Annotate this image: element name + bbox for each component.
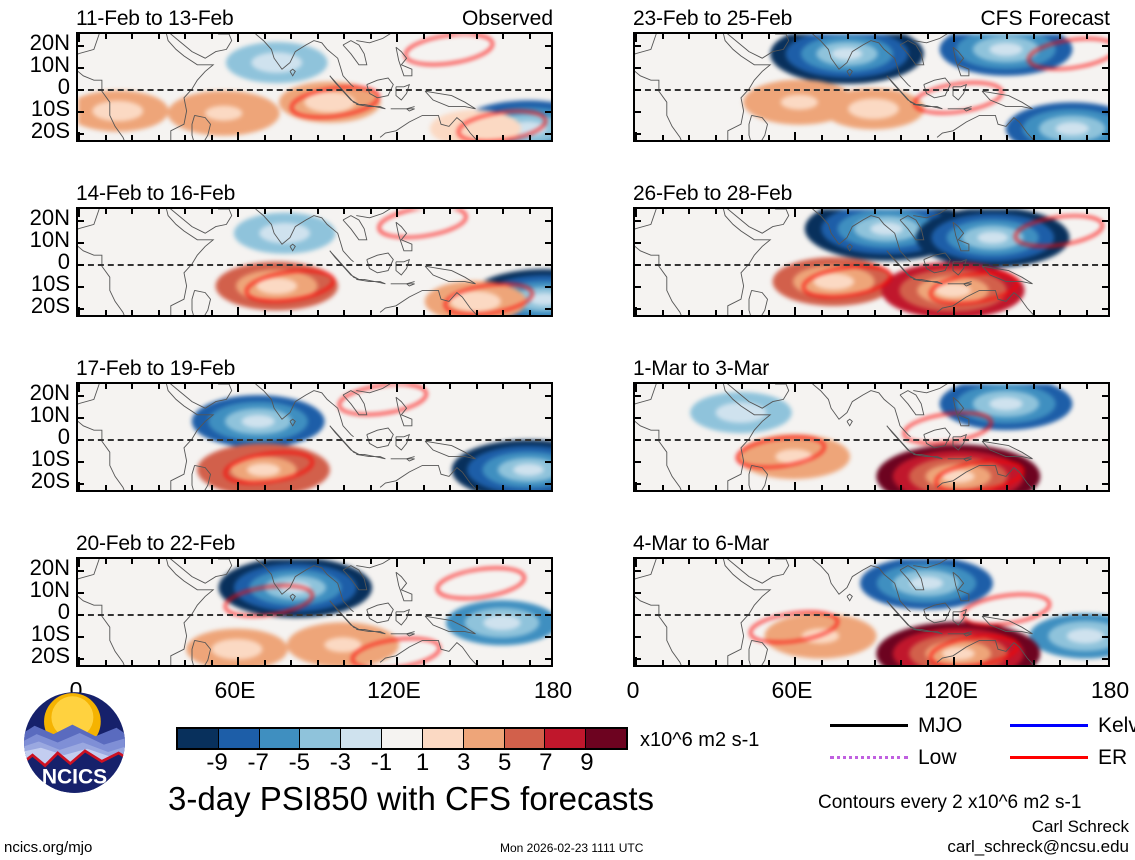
y-tick-right	[545, 592, 551, 594]
x-tick-top	[1059, 209, 1061, 214]
x-tick	[900, 310, 902, 315]
x-tick-top	[184, 209, 186, 214]
x-tick	[847, 485, 849, 490]
y-tick	[78, 264, 84, 266]
y-tick-right	[1102, 614, 1108, 616]
y-axis-label: 10N	[30, 579, 70, 601]
y-tick	[635, 483, 641, 485]
y-tick-right	[1102, 483, 1108, 485]
colorbar-tick-label: -5	[289, 751, 310, 775]
equator-line	[635, 614, 1108, 616]
coastline-segment	[367, 253, 394, 273]
map-field-p2	[635, 34, 1108, 140]
x-tick	[927, 485, 929, 490]
y-axis-labels-row1: 20N10N010S20S	[0, 32, 70, 142]
x-tick-top	[131, 384, 133, 389]
map-p8	[633, 557, 1110, 667]
x-tick	[662, 310, 664, 315]
x-tick-top	[476, 559, 478, 564]
coastline-segment	[425, 441, 475, 459]
x-tick-top	[449, 384, 451, 389]
x-tick-top	[131, 559, 133, 564]
panel-p8: 4-Mar to 6-Mar	[633, 557, 1110, 667]
y-tick-right	[1102, 461, 1108, 463]
x-axis-labels-right: 060E120E180	[633, 679, 1110, 709]
generated-timestamp: Mon 2026-02-23 1111 UTC	[500, 842, 643, 854]
x-tick-top	[211, 209, 213, 214]
map-field-p1	[78, 34, 551, 140]
x-tick	[343, 660, 345, 665]
x-tick-top	[635, 34, 637, 42]
x-tick-top	[396, 34, 398, 42]
x-tick-top	[529, 209, 531, 214]
y-axis-label: 20N	[30, 557, 70, 579]
x-tick-top	[847, 209, 849, 214]
x-tick-top	[184, 559, 186, 564]
y-tick-right	[545, 45, 551, 47]
coastlines-p6	[635, 384, 1108, 490]
x-tick	[370, 135, 372, 140]
x-tick-top	[1059, 559, 1061, 564]
x-tick-top	[1033, 384, 1035, 389]
coastline-segment	[937, 640, 1035, 665]
coastline-segment	[924, 253, 951, 273]
y-tick-right	[1102, 417, 1108, 419]
author-email: carl_schreck@ncsu.edu	[947, 838, 1129, 855]
y-tick-right	[545, 67, 551, 69]
x-tick-top	[927, 209, 929, 214]
y-axis-label: 10N	[30, 229, 70, 251]
colorbar-tick-label: 9	[580, 751, 593, 775]
coastline-segment	[749, 115, 768, 140]
equator-line	[78, 614, 551, 616]
panel-title-p7: 20-Feb to 22-Feb	[76, 533, 235, 554]
x-tick	[237, 132, 239, 140]
coastline-segment	[356, 384, 398, 393]
x-tick-top	[1006, 34, 1008, 39]
panel-p6: 1-Mar to 3-Mar	[633, 382, 1110, 492]
x-tick-top	[953, 34, 955, 42]
coastline-segment	[165, 209, 231, 233]
y-tick	[78, 89, 84, 91]
x-axis-label: 0	[627, 679, 640, 702]
y-tick-right	[545, 308, 551, 310]
legend-line-swatch	[830, 756, 908, 759]
equator-line	[78, 89, 551, 91]
coastline-segment	[380, 640, 478, 665]
y-tick	[78, 592, 84, 594]
x-tick-top	[423, 34, 425, 39]
x-tick-top	[449, 34, 451, 39]
x-tick-top	[476, 209, 478, 214]
legend-line-swatch	[1010, 756, 1088, 759]
x-tick-top	[237, 384, 239, 392]
coastline-segment	[78, 559, 213, 665]
coastline-segment	[396, 47, 412, 76]
x-tick	[821, 310, 823, 315]
x-tick-top	[980, 384, 982, 389]
coastline-segment	[913, 384, 955, 393]
coastline-segment	[953, 397, 969, 426]
coastlines-p3	[78, 209, 551, 315]
x-tick-top	[211, 559, 213, 564]
x-tick	[317, 660, 319, 665]
y-tick-right	[1102, 658, 1108, 660]
x-tick	[264, 135, 266, 140]
coastline-segment	[913, 279, 942, 283]
y-tick	[635, 67, 641, 69]
colorbar-tick-label: 5	[498, 751, 511, 775]
legend-line-swatch	[830, 724, 908, 727]
x-tick	[953, 307, 955, 315]
y-axis-label: 10S	[31, 273, 70, 295]
coastline-segment	[953, 47, 969, 76]
x-tick-top	[635, 559, 637, 567]
x-tick-top	[317, 209, 319, 214]
x-tick	[927, 310, 929, 315]
x-tick	[662, 485, 664, 490]
x-tick-top	[290, 34, 292, 39]
x-tick-top	[688, 559, 690, 564]
coastline-segment	[749, 640, 768, 665]
y-tick-right	[545, 264, 551, 266]
coastline-segment	[937, 290, 1035, 315]
x-tick-top	[821, 559, 823, 564]
x-tick-top	[529, 384, 531, 389]
x-tick-top	[423, 209, 425, 214]
coastline-segment	[953, 435, 966, 450]
y-tick	[635, 308, 641, 310]
x-tick	[794, 132, 796, 140]
y-tick	[78, 67, 84, 69]
x-tick-top	[131, 34, 133, 39]
x-tick-top	[370, 209, 372, 214]
coastline-segment	[964, 634, 972, 636]
x-tick	[741, 310, 743, 315]
x-tick	[1059, 485, 1061, 490]
x-tick	[715, 310, 717, 315]
x-tick-top	[768, 384, 770, 389]
colorbar-units-label: x10^6 m2 s-1	[640, 730, 759, 750]
x-tick	[900, 660, 902, 665]
x-tick-top	[211, 384, 213, 389]
panel-corner-label-p1: Observed	[462, 8, 553, 29]
x-tick	[396, 132, 398, 140]
coastline-segment	[913, 209, 955, 218]
x-tick-top	[105, 559, 107, 564]
x-tick-top	[158, 384, 160, 389]
x-tick-top	[131, 209, 133, 214]
y-tick	[635, 592, 641, 594]
y-tick	[78, 308, 84, 310]
y-tick	[635, 242, 641, 244]
x-tick	[1059, 660, 1061, 665]
x-tick-top	[1086, 34, 1088, 39]
x-tick-top	[821, 34, 823, 39]
x-tick	[211, 660, 213, 665]
x-tick-top	[927, 559, 929, 564]
coastlines-p4	[635, 209, 1108, 315]
x-tick-top	[688, 34, 690, 39]
y-tick-right	[545, 461, 551, 463]
legend-item-er: ER	[1010, 747, 1127, 768]
coastline-segment	[953, 85, 966, 100]
y-tick	[635, 89, 641, 91]
x-tick	[211, 310, 213, 315]
x-tick-top	[158, 209, 160, 214]
x-tick	[105, 660, 107, 665]
coastline-segment	[165, 559, 231, 583]
x-tick	[768, 310, 770, 315]
x-tick	[184, 310, 186, 315]
map-field-p7	[78, 559, 551, 665]
legend-item-mjo: MJO	[830, 715, 962, 736]
x-axis-label: 180	[1091, 679, 1129, 702]
x-tick	[1086, 310, 1088, 315]
x-tick	[343, 135, 345, 140]
y-tick-right	[1102, 308, 1108, 310]
y-axis-label: 20N	[30, 382, 70, 404]
coastline-segment	[356, 454, 385, 458]
y-tick-right	[1102, 45, 1108, 47]
x-tick-top	[370, 384, 372, 389]
x-tick	[423, 135, 425, 140]
y-tick-right	[545, 286, 551, 288]
x-tick-top	[237, 209, 239, 217]
coastline-segment	[407, 634, 415, 636]
y-tick	[78, 220, 84, 222]
y-tick	[78, 133, 84, 135]
panel-p2: 23-Feb to 25-FebCFS Forecast	[633, 32, 1110, 142]
y-axis-label: 10S	[31, 623, 70, 645]
x-tick	[131, 135, 133, 140]
x-tick	[502, 660, 504, 665]
x-tick-top	[476, 34, 478, 39]
x-tick	[1086, 485, 1088, 490]
y-tick	[78, 483, 84, 485]
x-tick-top	[158, 559, 160, 564]
x-tick-top	[78, 559, 80, 567]
coastline-segment	[913, 454, 942, 458]
coastline-segment	[900, 41, 924, 65]
y-axis-label: 0	[58, 251, 70, 273]
x-tick-top	[78, 384, 80, 392]
coastline-segment	[635, 559, 770, 665]
x-tick	[502, 310, 504, 315]
x-tick	[794, 482, 796, 490]
coastline-segment	[256, 209, 354, 262]
x-tick	[794, 307, 796, 315]
x-tick	[449, 310, 451, 315]
panel-title-p3: 14-Feb to 16-Feb	[76, 183, 235, 204]
x-axis-label: 60E	[215, 679, 256, 702]
x-tick-top	[900, 34, 902, 39]
equator-line	[78, 264, 551, 266]
x-axis-labels-left: 060E120E180	[76, 679, 553, 709]
coastline-segment	[396, 397, 412, 426]
y-tick	[635, 395, 641, 397]
x-tick-top	[343, 34, 345, 39]
y-tick-right	[1102, 439, 1108, 441]
x-tick-top	[662, 559, 664, 564]
x-tick	[1059, 135, 1061, 140]
panel-title-p6: 1-Mar to 3-Mar	[633, 358, 769, 379]
x-tick	[131, 660, 133, 665]
coastline-segment	[964, 459, 972, 461]
y-tick	[635, 614, 641, 616]
x-tick-top	[105, 384, 107, 389]
x-tick-top	[317, 34, 319, 39]
coastline-segment	[953, 572, 969, 601]
y-tick-right	[1102, 264, 1108, 266]
x-tick	[688, 310, 690, 315]
x-tick	[290, 135, 292, 140]
x-tick	[317, 485, 319, 490]
x-tick	[131, 310, 133, 315]
y-tick-right	[545, 395, 551, 397]
panel-title-p8: 4-Mar to 6-Mar	[633, 533, 769, 554]
y-axis-labels-row4: 20N10N010S20S	[0, 557, 70, 667]
x-tick-top	[715, 559, 717, 564]
x-tick-top	[715, 34, 717, 39]
colorbar-tick-label: 1	[416, 751, 429, 775]
x-tick	[290, 310, 292, 315]
x-tick	[821, 485, 823, 490]
x-tick-top	[635, 384, 637, 392]
x-tick-top	[662, 384, 664, 389]
coastline-segment	[192, 115, 211, 140]
coastline-segment	[924, 603, 951, 623]
x-tick-top	[768, 209, 770, 214]
x-tick	[715, 135, 717, 140]
x-tick	[237, 482, 239, 490]
y-tick	[635, 264, 641, 266]
x-tick-top	[502, 384, 504, 389]
equator-line	[635, 264, 1108, 266]
coastline-segment	[847, 419, 852, 426]
x-tick-top	[370, 559, 372, 564]
x-tick	[317, 135, 319, 140]
coastline-segment	[78, 209, 213, 315]
x-tick	[1033, 135, 1035, 140]
x-tick	[396, 482, 398, 490]
y-axis-label: 0	[58, 601, 70, 623]
coastline-segment	[367, 603, 394, 623]
x-tick-top	[715, 209, 717, 214]
x-tick	[502, 135, 504, 140]
y-tick	[635, 220, 641, 222]
colorbar-tick-labels: -9-7-5-3-113579	[176, 727, 628, 767]
y-tick-right	[545, 570, 551, 572]
coastline-segment	[924, 428, 951, 448]
x-tick	[264, 310, 266, 315]
x-tick	[847, 660, 849, 665]
coastline-segment	[722, 384, 788, 408]
coastline-segment	[953, 610, 966, 625]
x-tick	[1033, 310, 1035, 315]
x-tick	[476, 660, 478, 665]
x-tick	[662, 660, 664, 665]
x-tick-top	[370, 34, 372, 39]
panel-p1: 11-Feb to 13-FebObserved	[76, 32, 553, 142]
y-tick-right	[545, 133, 551, 135]
panel-title-p4: 26-Feb to 28-Feb	[633, 183, 792, 204]
x-tick-top	[1059, 384, 1061, 389]
x-tick	[953, 482, 955, 490]
coastline-segment	[937, 465, 1035, 490]
coastlines-p1	[78, 34, 551, 140]
x-tick	[874, 485, 876, 490]
x-tick	[237, 307, 239, 315]
x-tick	[423, 485, 425, 490]
x-tick	[105, 310, 107, 315]
x-axis-label: 120E	[367, 679, 421, 702]
coastline-segment	[847, 69, 852, 76]
x-tick	[953, 132, 955, 140]
x-tick	[900, 135, 902, 140]
x-tick	[794, 657, 796, 665]
x-tick	[768, 485, 770, 490]
map-p6	[633, 382, 1110, 492]
coastline-segment	[78, 34, 213, 140]
coastline-segment	[396, 572, 412, 601]
x-tick-top	[900, 384, 902, 389]
x-tick-top	[927, 384, 929, 389]
coastline-segment	[356, 559, 398, 568]
y-tick-right	[545, 220, 551, 222]
x-tick	[529, 660, 531, 665]
y-tick-right	[1102, 111, 1108, 113]
panel-p5: 17-Feb to 19-Feb	[76, 382, 553, 492]
x-tick-top	[953, 559, 955, 567]
coastline-segment	[982, 266, 1032, 284]
x-tick-top	[396, 559, 398, 567]
coastline-segment	[964, 109, 972, 111]
x-tick	[317, 310, 319, 315]
x-tick	[343, 310, 345, 315]
coastline-segment	[356, 279, 385, 283]
x-tick-top	[953, 384, 955, 392]
x-tick	[158, 660, 160, 665]
ncics-logo: NCICS	[22, 690, 127, 795]
legend-label: Low	[918, 747, 957, 768]
coastline-segment	[290, 419, 295, 426]
coastline-segment	[635, 384, 770, 490]
x-tick	[821, 660, 823, 665]
map-field-p6	[635, 384, 1108, 490]
x-tick	[158, 135, 160, 140]
coastline-segment	[964, 284, 972, 286]
x-tick	[105, 135, 107, 140]
x-tick-top	[529, 34, 531, 39]
map-field-p4	[635, 209, 1108, 315]
x-tick-top	[105, 209, 107, 214]
coastline-segment	[380, 290, 478, 315]
x-tick	[158, 310, 160, 315]
coastline-segment	[256, 384, 354, 437]
map-p3	[76, 207, 553, 317]
coastline-segment	[356, 104, 385, 108]
x-tick	[953, 657, 955, 665]
coastline-segment	[749, 465, 768, 490]
y-axis-labels-row2: 20N10N010S20S	[0, 207, 70, 317]
x-tick-top	[874, 34, 876, 39]
coastline-segment	[407, 284, 415, 286]
coastline-segment	[396, 85, 409, 100]
x-tick	[1006, 310, 1008, 315]
x-tick	[847, 310, 849, 315]
x-tick-top	[290, 559, 292, 564]
